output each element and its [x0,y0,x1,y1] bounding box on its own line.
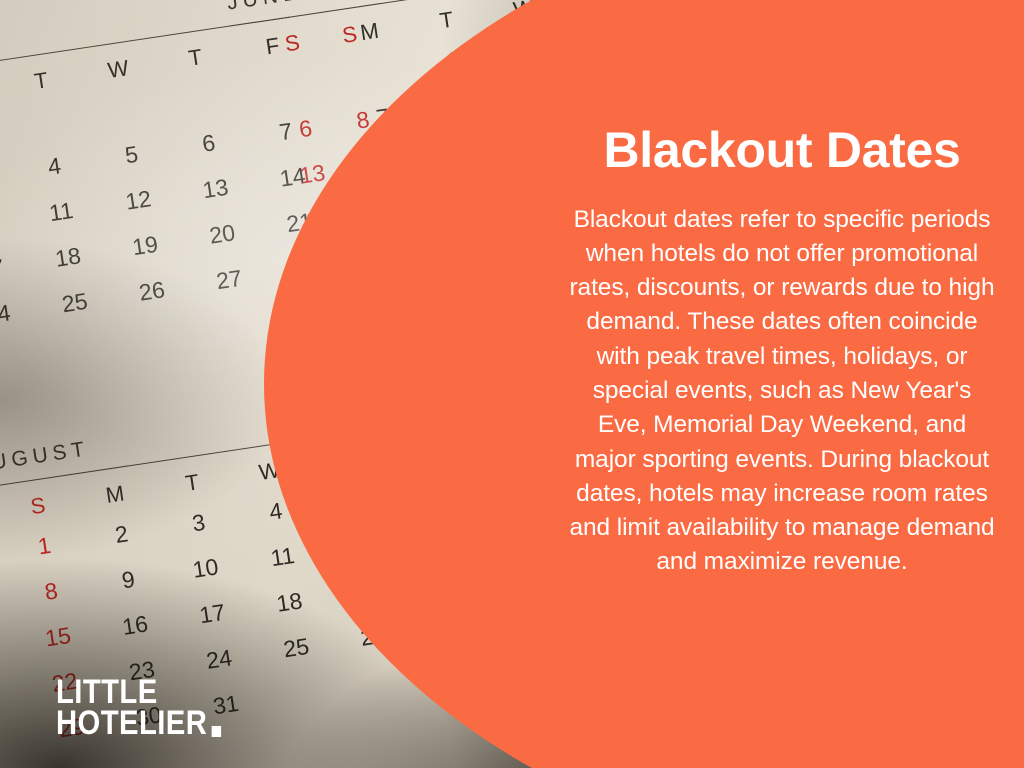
calendar-weekday: T [1,62,82,99]
calendar-day-cell: 13 [175,170,256,208]
calendar-day-cell: 18 [27,238,108,276]
calendar-day-cell [262,674,343,712]
calendar-weekday: W [78,51,159,88]
brand-logo: LITTLE HOTELIER [56,677,221,740]
calendar-day-cell [7,102,88,140]
calendar-day-cell: 17 [0,250,31,288]
calendar-month-label: JUNE [225,0,303,16]
calendar-day-cell: 26 [111,272,192,310]
calendar-day-cell: 10 [165,549,246,587]
calendar-day-cell: 6 [265,110,346,148]
calendar-day-cell [335,53,416,91]
calendar-day-cell: 2 [81,516,162,554]
calendar-day-cell: 16 [95,607,176,645]
calendar-day-cell: 24 [179,640,260,678]
calendar-day-cell: 12 [98,181,179,219]
calendar-day-cell: 19 [105,227,186,265]
calendar-weekday: T [155,39,236,76]
slide-canvas: MAYSMTWTFS303123456789101112131415161718… [0,0,1024,768]
calendar-weekday: T [152,464,233,501]
calendar-day-cell: 20 [182,215,263,253]
calendar-weekday: S [0,487,79,524]
body-paragraph: Blackout dates refer to specific periods… [566,203,998,580]
calendar-day-cell: 6 [168,124,249,162]
calendar-day-cell: 25 [34,284,115,322]
calendar-day-cell: 3 [158,504,239,542]
page-title: Blackout Dates [603,124,960,177]
calendar-day-cell: 1 [4,527,85,565]
calendar-day-cell: 5 [91,136,172,174]
calendar-day-cell: 17 [172,595,253,633]
calendar-day-cell: 11 [21,193,102,231]
logo-line-1: LITTLE [56,677,221,709]
calendar-weekday: M [75,476,156,513]
calendar-weekday: M [330,13,411,50]
calendar-day-cell: 4 [14,147,95,185]
logo-line-2: HOTELIER [56,708,221,740]
calendar-day-cell: 24 [0,295,38,333]
calendar-day-cell: 8 [11,573,92,611]
calendar-day-cell [84,90,165,128]
calendar-day-cell: 27 [189,261,270,299]
calendar-day-cell: 15 [17,618,98,656]
calendar-day-cell: 18 [249,583,330,621]
calendar-day-cell [161,79,242,117]
logo-wordmark: HOTELIER [56,708,207,740]
calendar-day-cell: 9 [88,561,169,599]
calendar-day-cell [258,64,339,102]
calendar-weekday: T [407,2,488,39]
calendar-weekday: S [252,25,333,62]
logo-dot-mark [212,726,221,737]
panel-content: Blackout Dates Blackout dates refer to s… [540,0,1024,768]
calendar-day-cell: 25 [256,629,337,667]
